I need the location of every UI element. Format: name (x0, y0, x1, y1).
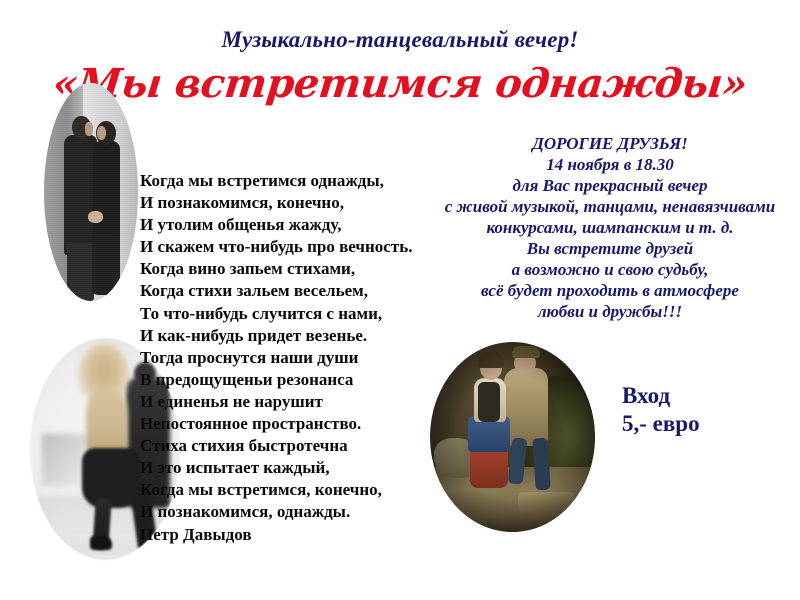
poem-line: И утолим общенья жажду, (140, 214, 460, 236)
couple-photo (44, 83, 138, 301)
dancer-shoe (90, 536, 112, 550)
poem-line: И познакомимся, конечно, (140, 192, 460, 214)
chair-blur (42, 434, 86, 486)
photo-grain-overlay (44, 83, 138, 301)
poem-line: Тогда проснутся наши души (140, 347, 460, 369)
poem-line: И как-нибудь придет везенье. (140, 325, 460, 347)
invitation-line: с живой музыкой, танцами, ненавязчивами (420, 196, 800, 217)
poem-line: Когда вино запьем стихами, (140, 258, 460, 280)
invitation-line: ДОРОГИЕ ДРУЗЬЯ! (420, 133, 800, 154)
dancer-skirt (82, 448, 140, 508)
invitation-line: конкурсами, шампанским и т. д. (420, 217, 800, 238)
invitation-line: для Вас прекрасный вечер (420, 175, 800, 196)
poem-line: Когда мы встретимся, конечно, (140, 479, 460, 501)
invitation-line: любви и дружбы!!! (420, 301, 800, 322)
entry-price: 5,- евро (622, 410, 700, 438)
poem-line: И единенья не нарушит (140, 391, 460, 413)
poem-line: В предощущеньи резонанса (140, 369, 460, 391)
entry-label: Вход (622, 382, 700, 410)
poem-line: Когда стихи зальем весельем, (140, 280, 460, 302)
invitation-block: ДОРОГИЕ ДРУЗЬЯ! 14 ноября в 18.30 для Ва… (420, 133, 800, 322)
entry-price-block: Вход 5,- евро (622, 382, 700, 438)
invitation-line: всё будет проходить в атмосфере (420, 280, 800, 301)
poem-line: Когда мы встретимся однажды, (140, 170, 460, 192)
poem-line: Непостоянное пространство. (140, 413, 460, 435)
invitation-line: 14 ноября в 18.30 (420, 154, 800, 175)
poem-line: И познакомимся, однажды. (140, 501, 460, 523)
invitation-line: Вы встретите друзей (420, 238, 800, 259)
poem-line: И это испытает каждый, (140, 457, 460, 479)
invitation-line: а возможно и свою судьбу, (420, 259, 800, 280)
poem-line: Стиха стихия быстротечна (140, 435, 460, 457)
poster-canvas: Музыкально-танцевальный вечер! «Мы встре… (0, 0, 800, 600)
poster-title-main: Музыкально-танцевальный вечер! (0, 27, 800, 53)
poem-line: И скажем что-нибудь про вечность. (140, 236, 460, 258)
poem-author: Петр Давыдов (140, 524, 460, 546)
poem-line: То что-нибудь случится с нами, (140, 303, 460, 325)
poem-block: Когда мы встретимся однажды, И познакоми… (140, 170, 460, 546)
